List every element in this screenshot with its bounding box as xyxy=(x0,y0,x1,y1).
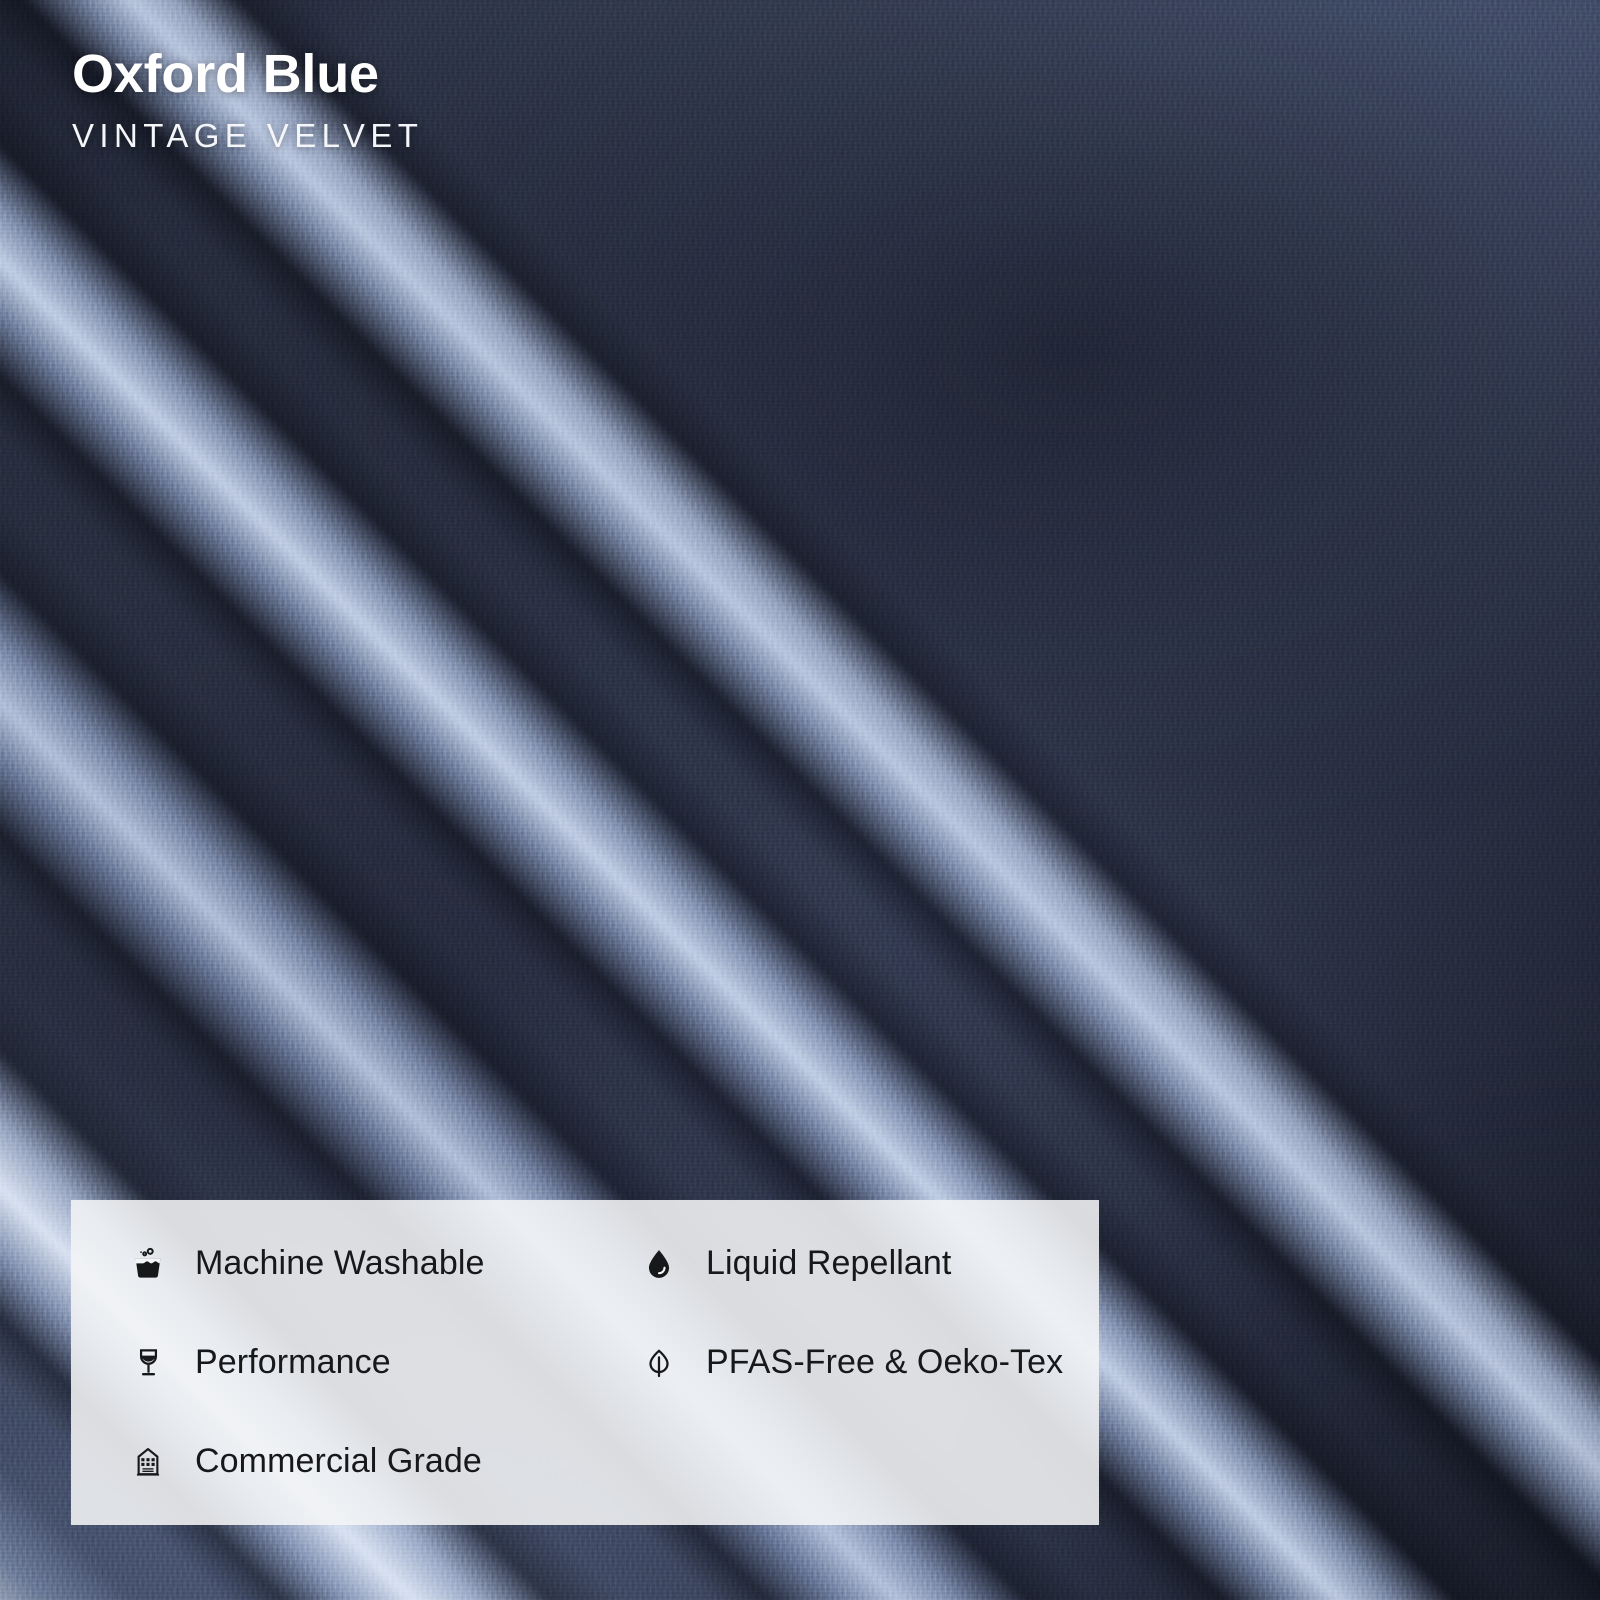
feature-label: PFAS-Free & Oeko-Tex xyxy=(706,1343,1063,1382)
feature-label: Machine Washable xyxy=(195,1244,485,1283)
building-icon xyxy=(127,1441,169,1483)
feature-item-performance: Performance xyxy=(71,1313,606,1412)
wine-glass-icon xyxy=(127,1342,169,1384)
feature-slot-empty xyxy=(606,1412,1099,1511)
water-droplet-icon xyxy=(638,1243,680,1285)
feature-label: Liquid Repellant xyxy=(706,1244,951,1283)
feature-label: Performance xyxy=(195,1343,391,1382)
feature-panel: Machine Washable Liquid Repellant xyxy=(71,1200,1099,1525)
leaf-icon xyxy=(638,1342,680,1384)
feature-item-commercial-grade: Commercial Grade xyxy=(71,1412,606,1511)
feature-item-liquid-repellant: Liquid Repellant xyxy=(606,1214,1099,1313)
feature-item-machine-washable: Machine Washable xyxy=(71,1214,606,1313)
page-title: Oxford Blue xyxy=(72,46,423,103)
product-header: Oxford Blue VINTAGE VELVET xyxy=(72,46,423,152)
feature-label: Commercial Grade xyxy=(195,1442,482,1481)
feature-item-pfas-free-oeko-tex: PFAS-Free & Oeko-Tex xyxy=(606,1313,1099,1412)
washing-tub-icon xyxy=(127,1243,169,1285)
page-subtitle: VINTAGE VELVET xyxy=(72,119,423,152)
product-swatch-card: Oxford Blue VINTAGE VELVET Machine Washa… xyxy=(0,0,1600,1600)
